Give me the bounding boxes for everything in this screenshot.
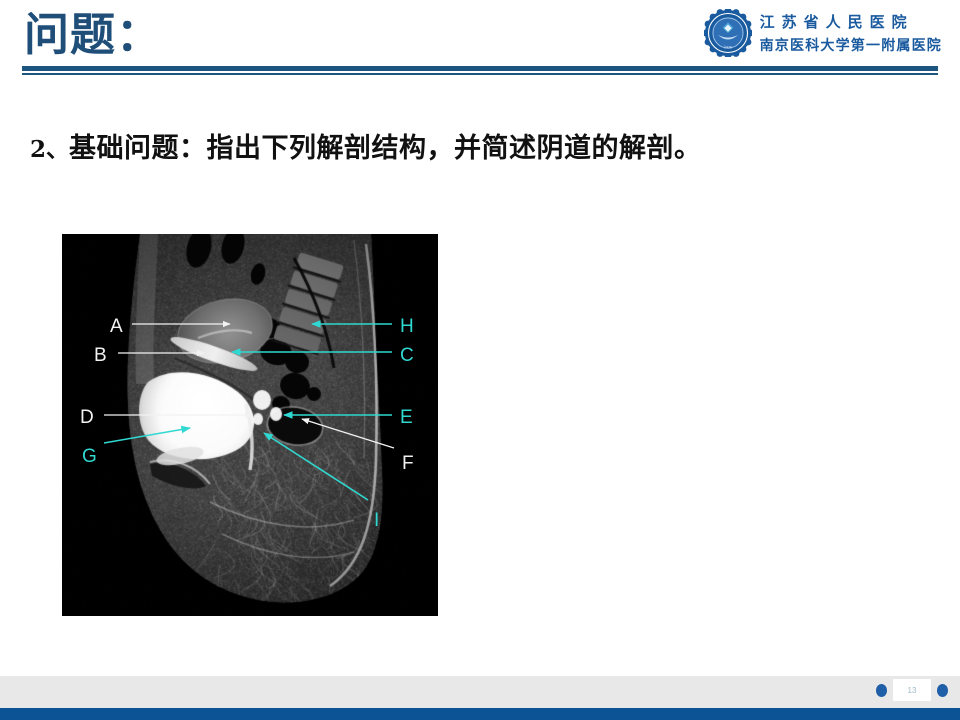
page-number: 13: [908, 686, 917, 695]
hospital-name-secondary: 南京医科大学第一附属医院: [760, 35, 942, 55]
footer-accent-bar: [0, 708, 960, 720]
hospital-logo: 1936 江苏省人民医院 南京医科大学第一附属医院: [704, 8, 942, 58]
header-divider-thick: [22, 66, 938, 71]
page-title: 问题：: [24, 9, 162, 61]
hospital-name-primary: 江苏省人民医院: [760, 11, 942, 32]
footer-dot-right-icon: [937, 684, 948, 697]
slide-header: 问题：: [0, 0, 960, 80]
svg-text:1936: 1936: [724, 46, 732, 50]
arrow-i: [264, 433, 368, 500]
header-divider-thin: [22, 73, 938, 75]
arrow-g: [104, 428, 190, 443]
footer-dot-left-icon: [876, 684, 887, 697]
page-number-box: 13: [893, 679, 931, 701]
mri-figure: ABCDEFGHI: [62, 234, 438, 616]
arrow-f: [302, 419, 394, 448]
question-number: 2、: [30, 130, 69, 164]
hospital-logo-text: 江苏省人民医院 南京医科大学第一附属医院: [760, 11, 942, 55]
question-text: 基础问题：指出下列解剖结构，并简述阴道的解剖。: [69, 126, 702, 165]
question-line: 2、 基础问题：指出下列解剖结构，并简述阴道的解剖。: [30, 126, 702, 165]
footer-band: [0, 676, 960, 708]
hospital-seal-emblem: 1936: [704, 9, 752, 57]
mri-annotation-arrows: [62, 234, 438, 616]
